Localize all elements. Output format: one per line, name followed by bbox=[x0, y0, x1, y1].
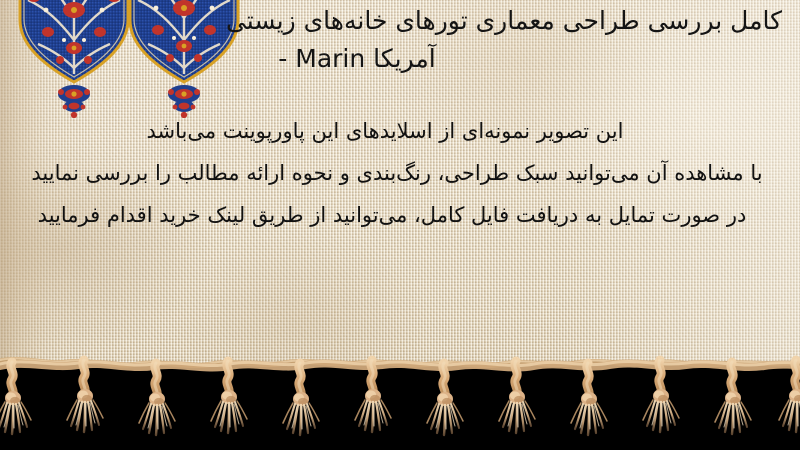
title-line-2: آمریکا Marin - bbox=[14, 40, 786, 78]
body-line-1: این تصویر نمونه‌ای از اسلایدهای این پاور… bbox=[16, 110, 784, 152]
body-line-2: با مشاهده آن می‌توانید سبک طراحی، رنگ‌بن… bbox=[16, 152, 784, 194]
title-line-1: کامل بررسی طراحی معماری تورهای خانه‌های … bbox=[14, 2, 786, 40]
slide-text-layer: کامل بررسی طراحی معماری تورهای خانه‌های … bbox=[0, 0, 800, 374]
body-line-3: در صورت تمایل به دریافت فایل کامل، می‌تو… bbox=[16, 194, 784, 236]
presentation-slide: کامل بررسی طراحی معماری تورهای خانه‌های … bbox=[0, 0, 800, 450]
slide-body: این تصویر نمونه‌ای از اسلایدهای این پاور… bbox=[16, 110, 784, 236]
slide-title: کامل بررسی طراحی معماری تورهای خانه‌های … bbox=[14, 2, 786, 78]
